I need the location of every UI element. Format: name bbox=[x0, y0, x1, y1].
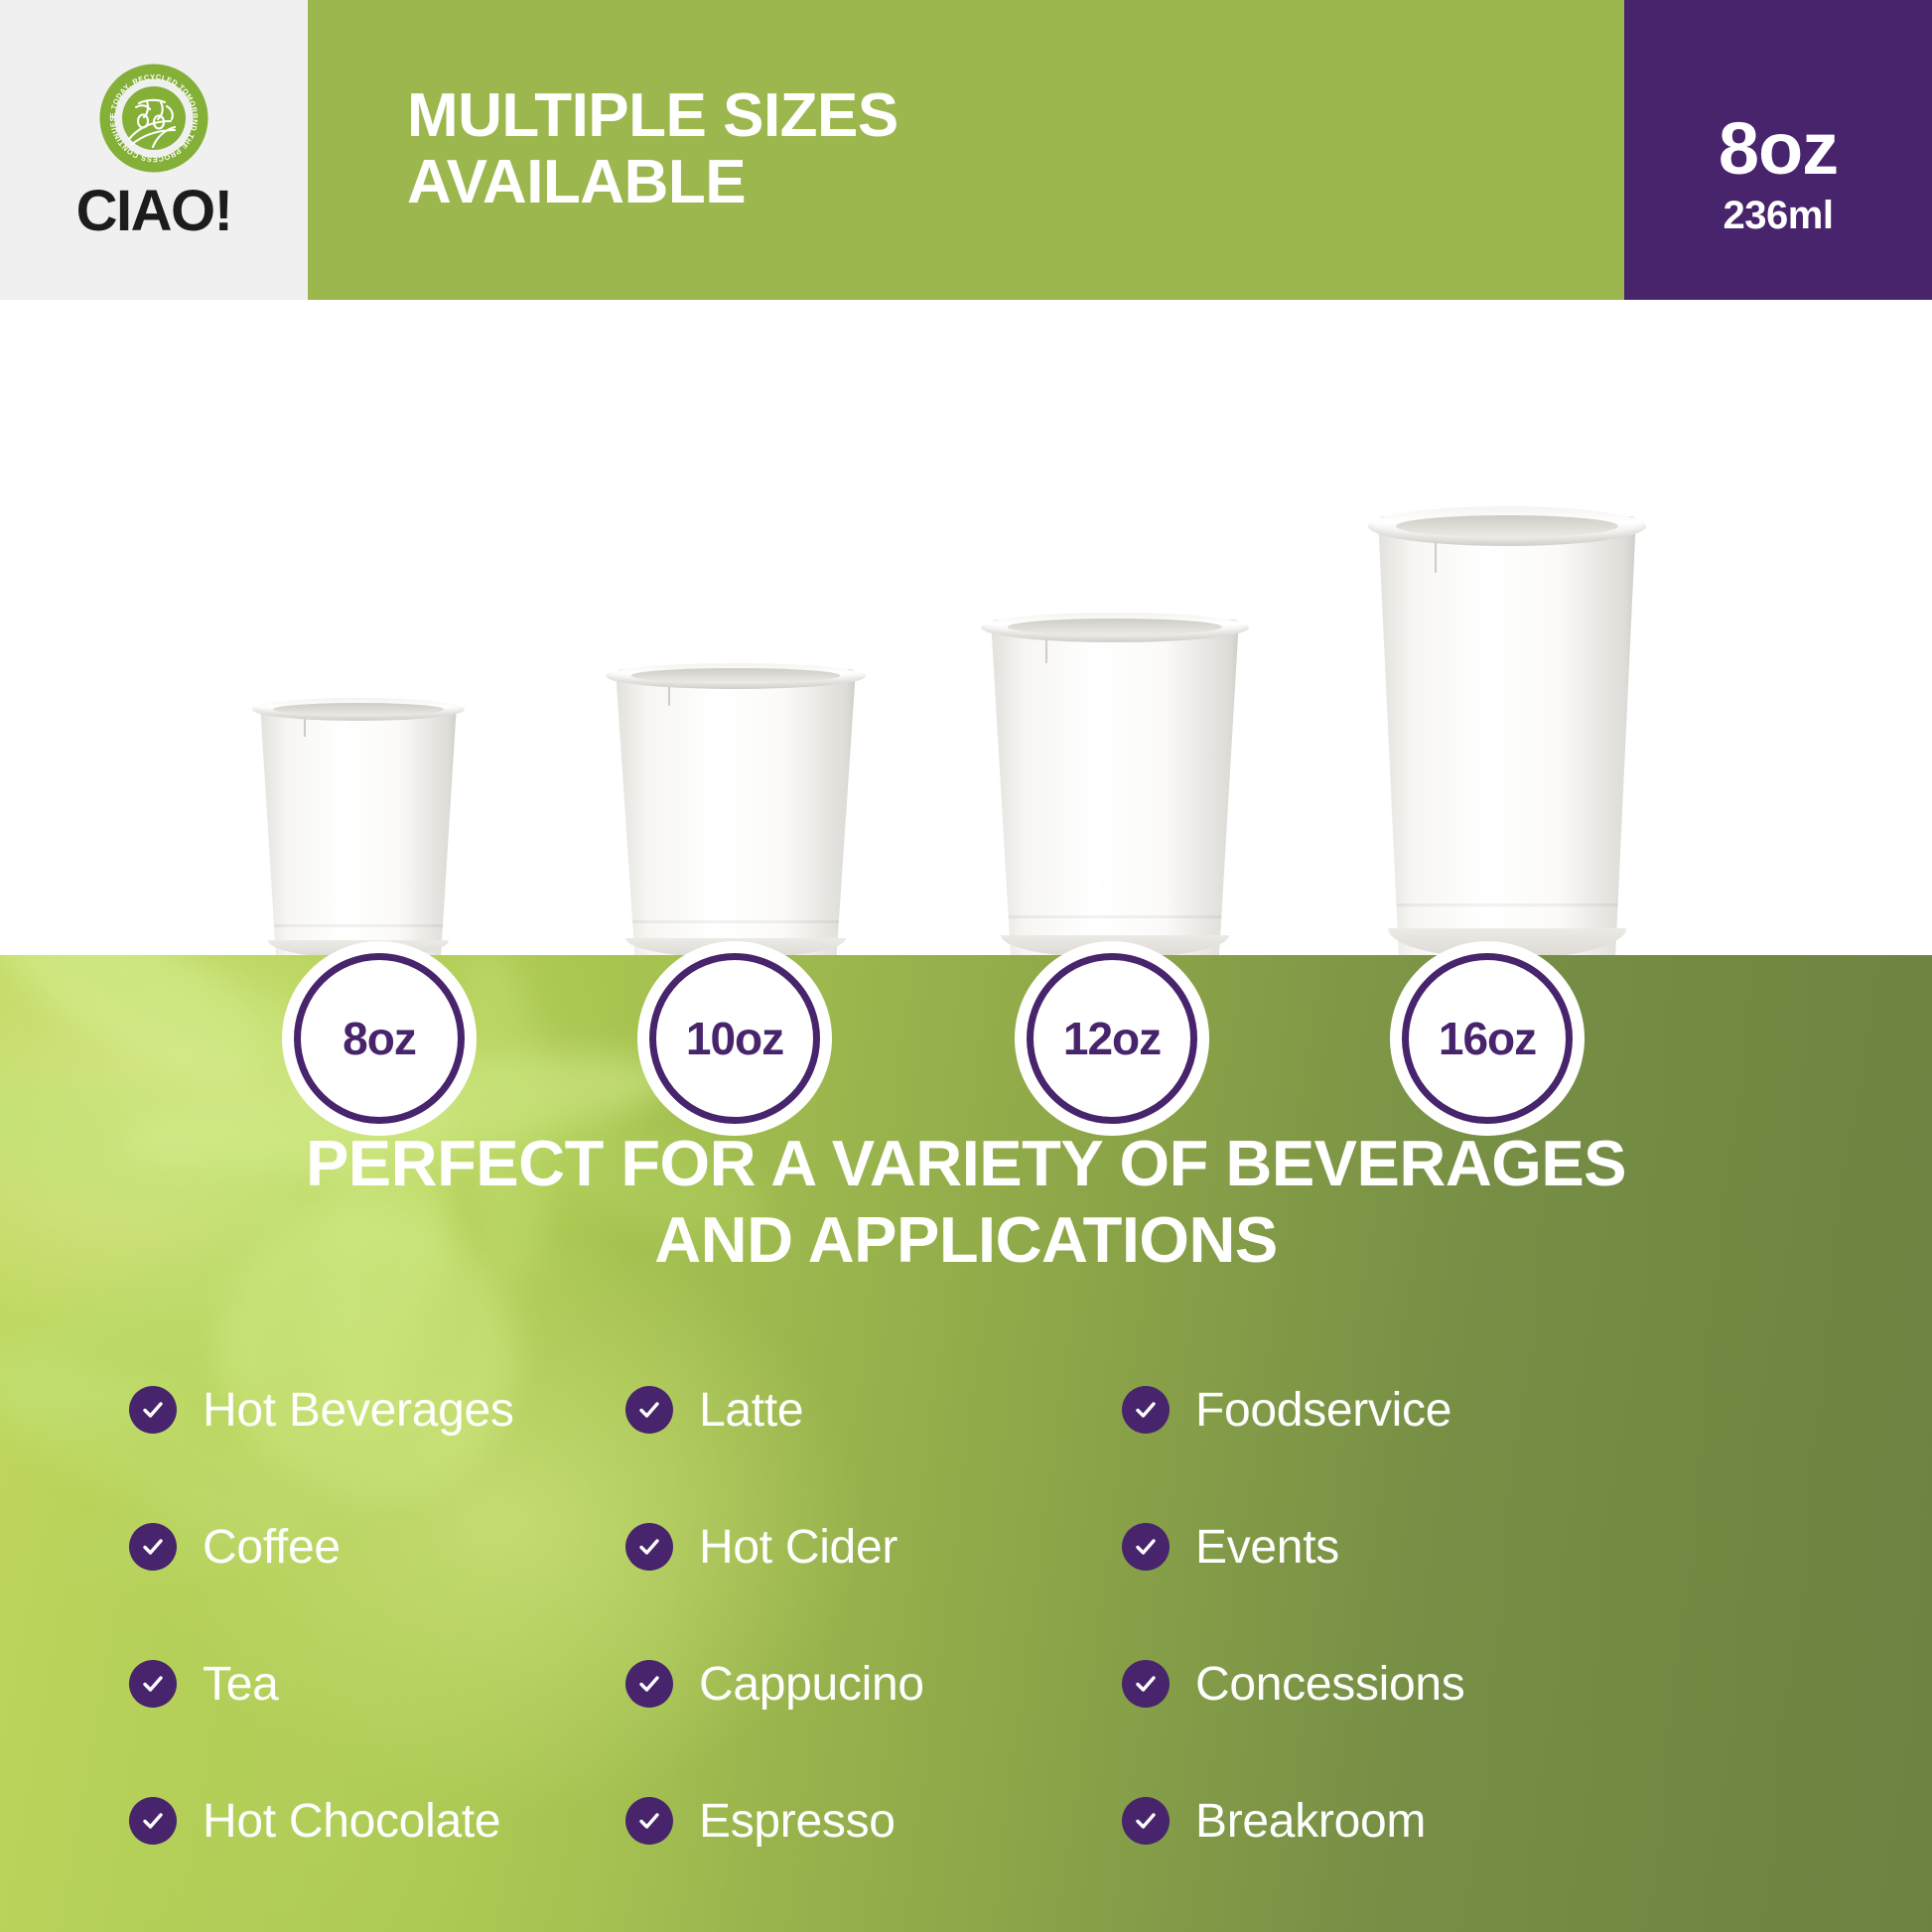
size-badge-10oz[interactable]: 10oz bbox=[649, 953, 820, 1124]
page-title: MULTIPLE SIZES AVAILABLE bbox=[308, 83, 898, 216]
features-title: PERFECT FOR A VARIETY OF BEVERAGES AND A… bbox=[0, 1126, 1932, 1278]
feature-label: Events bbox=[1195, 1520, 1339, 1575]
brand-wordmark: CIAO! bbox=[76, 183, 232, 240]
feature-label: Hot Cider bbox=[699, 1520, 897, 1575]
feature-item: Hot Chocolate bbox=[129, 1773, 625, 1868]
feature-item: Events bbox=[1122, 1499, 1618, 1594]
features-section: PERFECT FOR A VARIETY OF BEVERAGES AND A… bbox=[0, 955, 1932, 1932]
size-badge-16oz[interactable]: 16oz bbox=[1402, 953, 1573, 1124]
check-icon bbox=[625, 1386, 673, 1434]
feature-item: Espresso bbox=[625, 1773, 1122, 1868]
feature-item: Hot Beverages bbox=[129, 1362, 625, 1457]
feature-item: Breakroom bbox=[1122, 1773, 1618, 1868]
cup-image-10oz bbox=[616, 669, 856, 955]
feature-label: Latte bbox=[699, 1383, 803, 1438]
check-icon bbox=[1122, 1523, 1170, 1571]
feature-label: Hot Beverages bbox=[203, 1383, 514, 1438]
infographic-page: HERE TODAY. RECYCLED TOMORROW. AND THE P… bbox=[0, 0, 1932, 1932]
check-icon bbox=[1122, 1797, 1170, 1845]
check-icon bbox=[1122, 1386, 1170, 1434]
size-highlight-oz: 8oz bbox=[1719, 114, 1838, 184]
features-column-1: Hot Beverages Coffee Tea Hot Chocolate bbox=[129, 1362, 625, 1910]
feature-label: Coffee bbox=[203, 1520, 341, 1575]
feature-label: Cappucino bbox=[699, 1657, 924, 1712]
feature-label: Hot Chocolate bbox=[203, 1794, 500, 1849]
header-title-band: MULTIPLE SIZES AVAILABLE bbox=[308, 0, 1624, 300]
features-column-2: Latte Hot Cider Cappucino Espresso bbox=[625, 1362, 1122, 1910]
feature-label: Breakroom bbox=[1195, 1794, 1426, 1849]
features-column-3: Foodservice Events Concessions Breakroom bbox=[1122, 1362, 1618, 1910]
cup-sizes-showcase: 8oz 10oz 12oz 16oz bbox=[0, 300, 1932, 955]
size-highlight-panel: 8oz 236ml bbox=[1624, 0, 1932, 300]
size-badge-label: 16oz bbox=[1439, 1012, 1536, 1065]
feature-item: Cappucino bbox=[625, 1636, 1122, 1731]
feature-item: Hot Cider bbox=[625, 1499, 1122, 1594]
size-badge-8oz[interactable]: 8oz bbox=[294, 953, 465, 1124]
size-badge-label: 10oz bbox=[686, 1012, 783, 1065]
check-icon bbox=[625, 1523, 673, 1571]
header-bar: HERE TODAY. RECYCLED TOMORROW. AND THE P… bbox=[0, 0, 1932, 300]
feature-item: Concessions bbox=[1122, 1636, 1618, 1731]
cup-image-8oz bbox=[260, 704, 457, 955]
check-icon bbox=[129, 1660, 177, 1708]
feature-item: Tea bbox=[129, 1636, 625, 1731]
feature-item: Coffee bbox=[129, 1499, 625, 1594]
feature-item: Foodservice bbox=[1122, 1362, 1618, 1457]
cup-image-16oz bbox=[1378, 516, 1636, 955]
size-highlight-ml: 236ml bbox=[1724, 192, 1834, 239]
olive-branch-icon: HERE TODAY. RECYCLED TOMORROW. AND THE P… bbox=[95, 60, 212, 177]
check-icon bbox=[129, 1386, 177, 1434]
feature-label: Tea bbox=[203, 1657, 279, 1712]
check-icon bbox=[625, 1797, 673, 1845]
feature-label: Concessions bbox=[1195, 1657, 1465, 1712]
brand-logo-panel: HERE TODAY. RECYCLED TOMORROW. AND THE P… bbox=[0, 0, 308, 300]
features-columns: Hot Beverages Coffee Tea Hot Chocolate bbox=[129, 1362, 1857, 1910]
check-icon bbox=[129, 1523, 177, 1571]
feature-label: Espresso bbox=[699, 1794, 896, 1849]
feature-label: Foodservice bbox=[1195, 1383, 1451, 1438]
size-badge-label: 12oz bbox=[1063, 1012, 1161, 1065]
check-icon bbox=[625, 1660, 673, 1708]
check-icon bbox=[1122, 1660, 1170, 1708]
check-icon bbox=[129, 1797, 177, 1845]
feature-item: Latte bbox=[625, 1362, 1122, 1457]
size-badge-12oz[interactable]: 12oz bbox=[1027, 953, 1197, 1124]
size-badge-label: 8oz bbox=[343, 1012, 416, 1065]
cup-image-12oz bbox=[991, 620, 1239, 955]
